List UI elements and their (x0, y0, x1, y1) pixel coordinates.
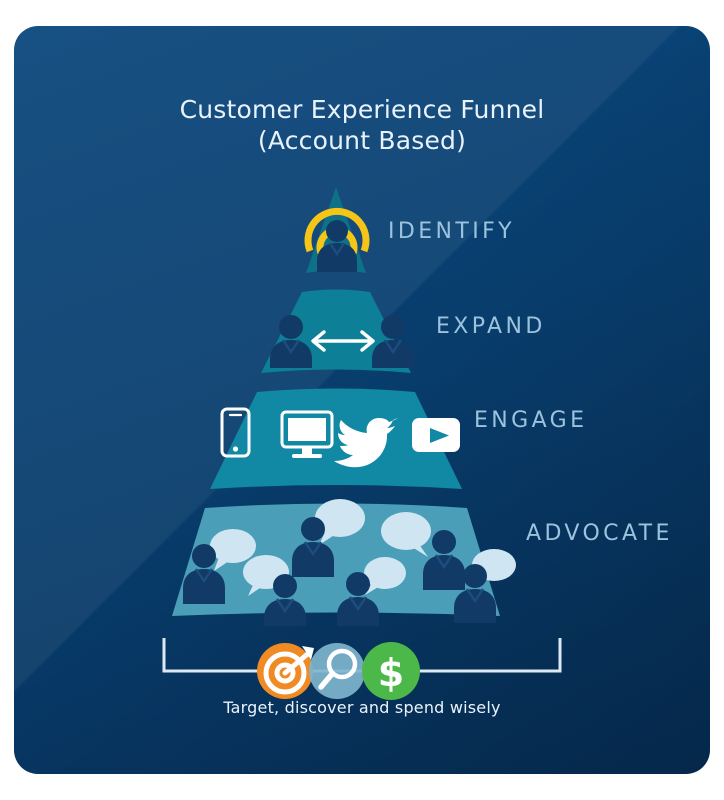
funnel-tier-advocate[interactable] (172, 499, 516, 626)
funnel-tier-expand[interactable] (261, 290, 414, 374)
funnel-diagram: $ IDENTIFY EXPAND ENGAGE ADVOCATE (14, 26, 710, 774)
tier-label-engage: ENGAGE (474, 408, 587, 433)
footer-badges: $ (257, 642, 420, 700)
target-dart-badge[interactable] (257, 643, 314, 699)
magnifier-badge[interactable] (309, 643, 365, 699)
tier-label-advocate: ADVOCATE (526, 521, 673, 546)
infographic-card: Customer Experience Funnel (Account Base… (14, 26, 710, 774)
footer-caption: Target, discover and spend wisely (14, 698, 710, 717)
video-play-icon (412, 418, 460, 452)
funnel-tier-engage[interactable] (210, 389, 462, 490)
funnel-tier-identify[interactable] (306, 187, 366, 273)
tier-label-expand: EXPAND (436, 314, 546, 339)
dollar-badge[interactable]: $ (362, 642, 420, 700)
dollar-glyph: $ (378, 651, 404, 695)
tier-label-identify: IDENTIFY (388, 219, 515, 244)
funnel-svg: $ (14, 26, 710, 774)
